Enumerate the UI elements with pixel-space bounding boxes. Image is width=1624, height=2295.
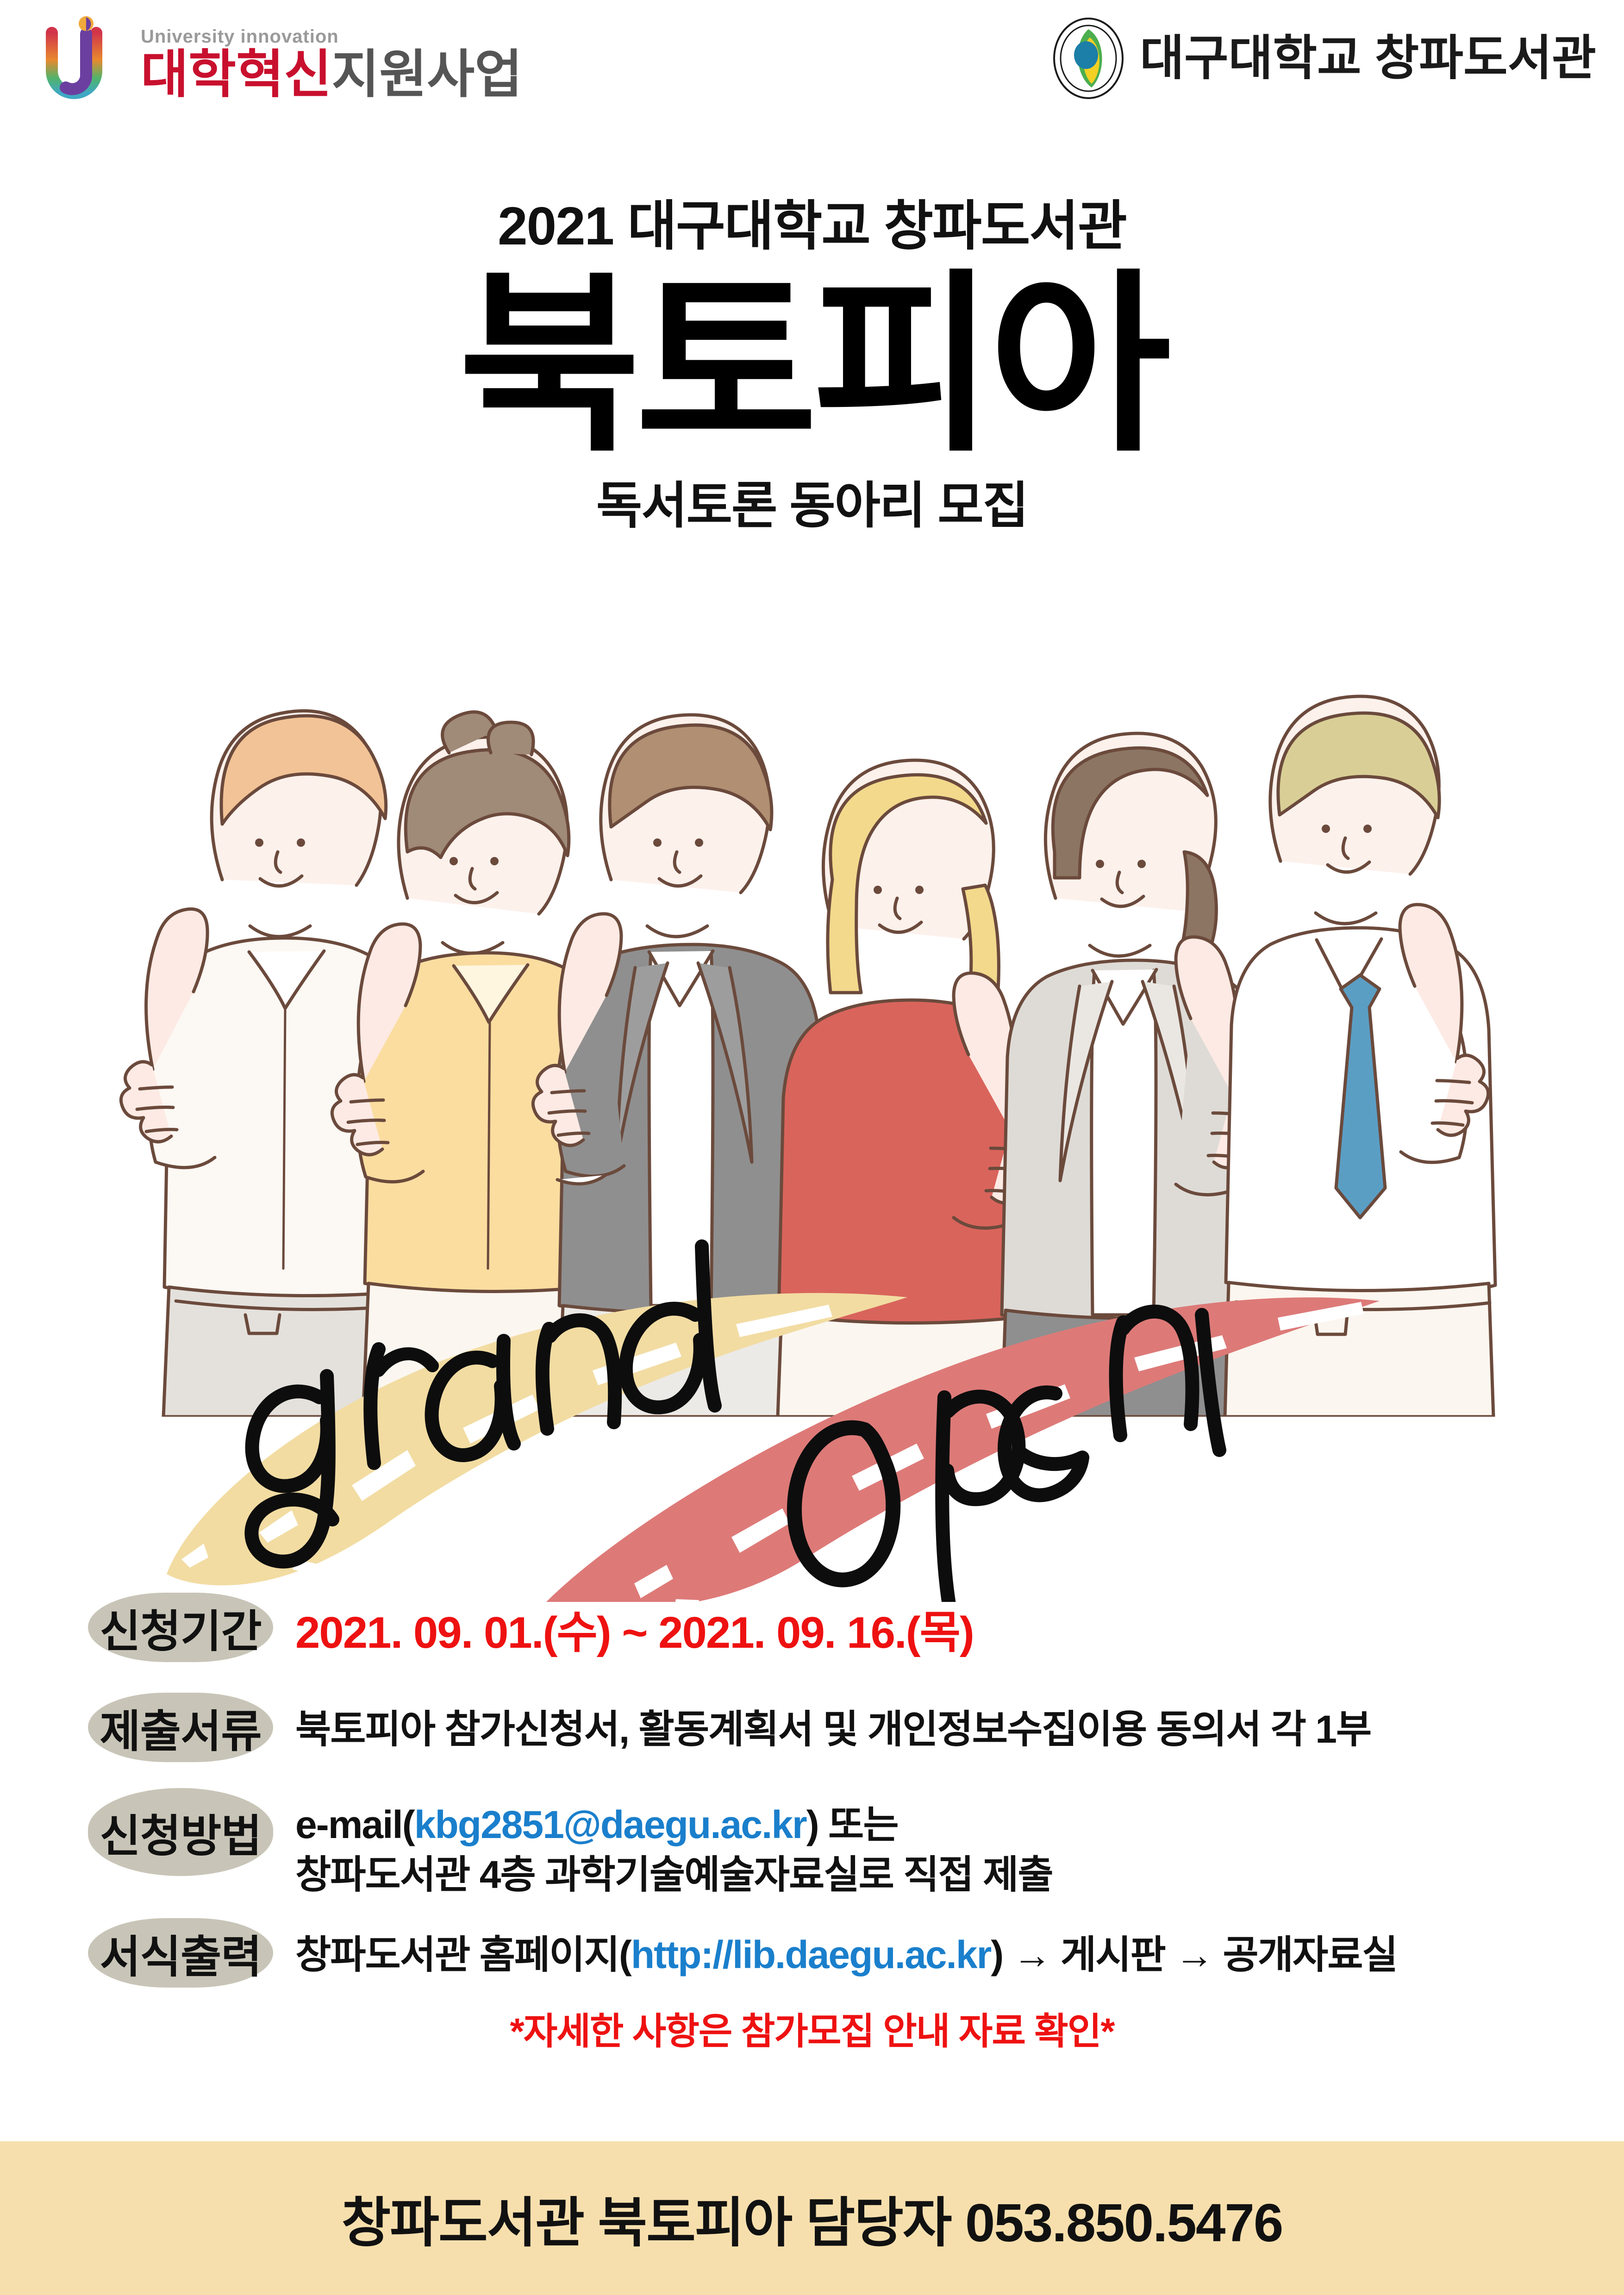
info-row-application-period: 신청기간 2021. 09. 01.(수) ~ 2021. 09. 16.(목): [0, 1593, 1624, 1662]
email-prefix-text: e-mail(: [295, 1803, 414, 1846]
uj-logo-icon: [42, 15, 134, 113]
ui-logo-name-gray: 지원사업: [331, 45, 522, 103]
university-innovation-logo: University innovation 대학혁신지원사업: [42, 8, 532, 119]
library-homepage-link[interactable]: http://lib.daegu.ac.kr: [631, 1933, 991, 1976]
poster-eyebrow: 2021 대구대학교 창파도서관: [0, 199, 1624, 253]
info-label-application-method: 신청방법: [88, 1788, 273, 1876]
homepage-prefix-text: 창파도서관 홈페이지(: [295, 1933, 631, 1976]
ui-logo-tagline: University innovation: [141, 27, 522, 46]
navigation-path-text: ) → 게시판 → 공개자료실: [991, 1933, 1397, 1976]
info-label-form-download: 서식출력: [88, 1918, 273, 1988]
daegu-university-seal-icon: [1047, 17, 1130, 100]
info-row-form-download: 서식출력 창파도서관 홈페이지(http://lib.daegu.ac.kr) …: [0, 1918, 1624, 1988]
info-label-application-period: 신청기간: [88, 1593, 273, 1662]
grand-open-hero: [0, 1176, 1624, 1602]
info-row-application-method: 신청방법 e-mail(kbg2851@daegu.ac.kr) 또는 창파도서…: [0, 1788, 1624, 1900]
info-value-form-download: 창파도서관 홈페이지(http://lib.daegu.ac.kr) → 게시판…: [295, 1930, 1397, 1980]
title-block: 2021 대구대학교 창파도서관 북토피아 독서토론 동아리 모집: [0, 199, 1624, 531]
email-suffix-text: ) 또는: [806, 1803, 898, 1846]
footer-contact-band: 창파도서관 북토피아 담당자 053.850.5476: [0, 2141, 1624, 2295]
info-value-application-method-line2: 창파도서관 4층 과학기술예술자료실로 직접 제출: [295, 1850, 1053, 1900]
footer-contact-text: 창파도서관 북토피아 담당자 053.850.5476: [342, 2179, 1283, 2257]
info-row-required-documents: 제출서류 북토피아 참가신청서, 활동계획서 및 개인정보수집이용 동의서 각 …: [0, 1693, 1624, 1762]
detail-note: *자세한 사항은 참가모집 안내 자료 확인*: [0, 2001, 1624, 2055]
library-logo: 대구대학교 창파도서관: [1047, 12, 1596, 105]
info-value-required-documents: 북토피아 참가신청서, 활동계획서 및 개인정보수집이용 동의서 각 1부: [295, 1705, 1371, 1755]
email-link[interactable]: kbg2851@daegu.ac.kr: [414, 1803, 806, 1846]
info-section: 신청기간 2021. 09. 01.(수) ~ 2021. 09. 16.(목)…: [0, 1593, 1624, 2055]
ui-logo-name-red: 대학혁신: [141, 45, 331, 103]
info-value-application-period: 2021. 09. 01.(수) ~ 2021. 09. 16.(목): [295, 1605, 974, 1662]
info-value-application-method-line1: e-mail(kbg2851@daegu.ac.kr) 또는: [295, 1800, 1053, 1850]
library-logo-name: 대구대학교 창파도서관: [1140, 34, 1596, 82]
page-title: 북토피아: [0, 267, 1624, 465]
poster-subtitle: 독서토론 동아리 모집: [0, 481, 1624, 531]
info-label-required-documents: 제출서류: [88, 1693, 273, 1762]
